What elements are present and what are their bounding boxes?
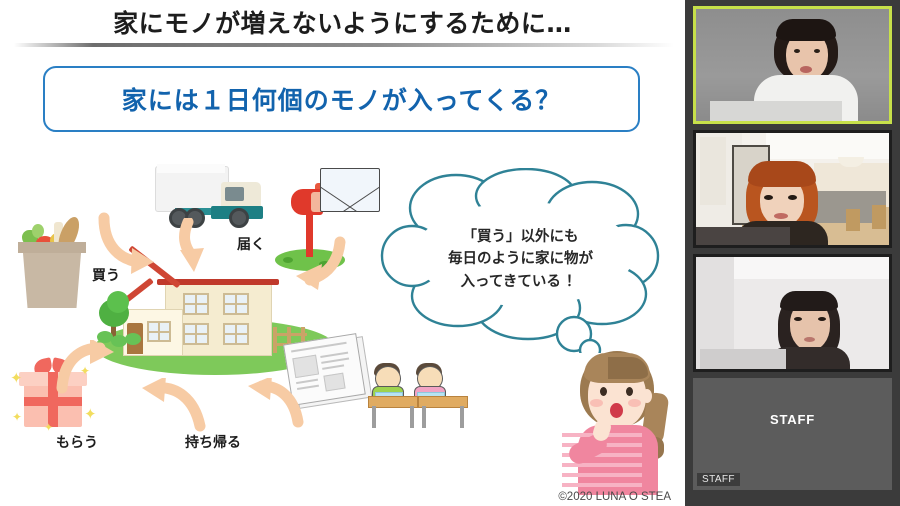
participant-display-name: STAFF xyxy=(693,412,892,427)
participant-video-1 xyxy=(696,9,889,121)
participant-sidebar[interactable]: STAFF STAFF xyxy=(685,0,900,506)
video-tile-3[interactable] xyxy=(693,254,892,372)
envelope-icon xyxy=(320,168,380,212)
arrow-gift-to-house xyxy=(56,340,118,394)
participant-name-badge: STAFF xyxy=(697,473,740,486)
video-tile-staff-placeholder[interactable]: STAFF STAFF xyxy=(693,378,892,490)
question-box: 家には１日何個のモノが入ってくる？ xyxy=(43,66,640,132)
video-conference-screen: 家にモノが増えないようにするために… 家には１日何個のモノが入ってくる？ 買う … xyxy=(0,0,900,506)
students-at-desk-icon xyxy=(368,352,478,434)
arrow-buy-to-house xyxy=(98,212,158,274)
arrow-bring-home-to-house xyxy=(140,378,206,434)
thought-bubble-text: 「買う」以外にも 毎日のように家に物が 入ってきている ！ xyxy=(378,226,663,293)
title-divider xyxy=(14,43,674,47)
thinking-woman-icon xyxy=(562,345,680,495)
participant-video-2 xyxy=(696,133,889,245)
shared-slide[interactable]: 家にモノが増えないようにするために… 家には１日何個のモノが入ってくる？ 買う … xyxy=(0,0,685,506)
label-bring-home: 持ち帰る xyxy=(185,432,241,452)
label-receive: もらう xyxy=(56,432,98,452)
video-tile-1[interactable] xyxy=(693,6,892,124)
grocery-bag-icon xyxy=(14,220,92,308)
page-title: 家にモノが増えないようにするために… xyxy=(0,4,685,40)
participant-video-3 xyxy=(696,257,889,369)
video-tile-2[interactable] xyxy=(693,130,892,248)
flow-diagram: 買う ✦ ✦ ✦ ✦ ✦ もらう xyxy=(0,140,685,495)
arrow-mailbox-to-house xyxy=(288,236,348,296)
thought-bubble-icon: 「買う」以外にも 毎日のように家に物が 入ってきている ！ xyxy=(378,168,663,353)
arrow-truck-to-house xyxy=(178,218,220,274)
question-box-text: 家には１日何個のモノが入ってくる？ xyxy=(122,81,562,117)
label-deliver: 届く xyxy=(237,234,265,254)
copyright-text: ©2020 LUNA O STEA xyxy=(558,491,671,503)
arrow-students-to-house xyxy=(244,378,304,428)
